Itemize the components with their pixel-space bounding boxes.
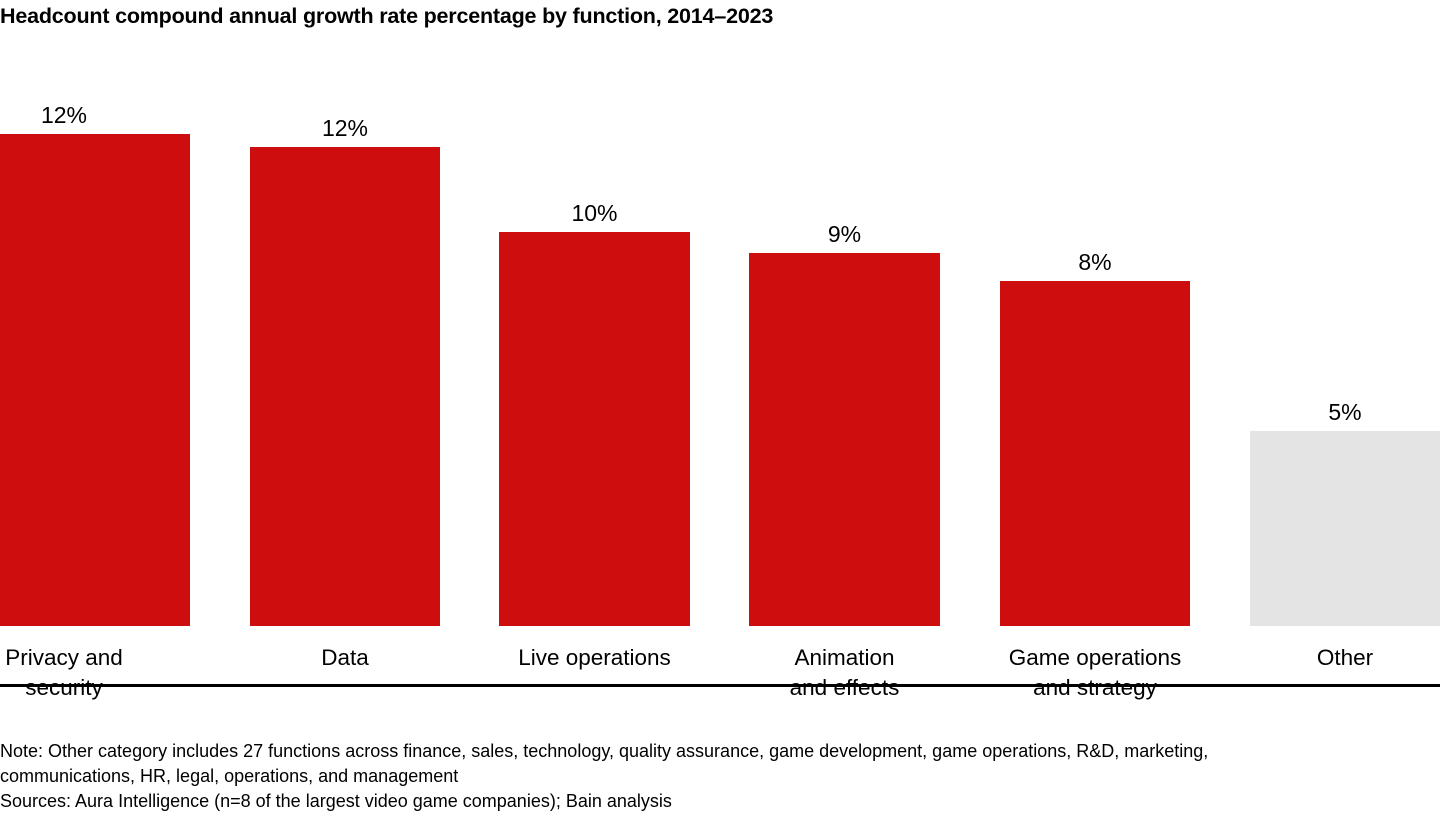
bar-animation-and-effects[interactable]: [749, 253, 940, 626]
category-label-line2: security: [0, 673, 190, 703]
bar-data[interactable]: [250, 147, 440, 626]
category-label-line1: Animation: [749, 643, 940, 673]
category-label-line2: and effects: [749, 673, 940, 703]
page-title: Headcount compound annual growth rate pe…: [0, 1, 1440, 31]
bar-group-animation-and-effects: 9%: [749, 60, 940, 626]
note-line-2: communications, HR, legal, operations, a…: [0, 764, 1440, 789]
bar-group-privacy-and-security: 12%: [0, 60, 190, 626]
note-line-1: Note: Other category includes 27 functio…: [0, 739, 1440, 764]
bar-other[interactable]: [1250, 431, 1440, 626]
sources-line: Sources: Aura Intelligence (n=8 of the l…: [0, 789, 1440, 814]
category-label-animation-and-effects: Animation and effects: [749, 643, 940, 703]
plot-area: 12% 12% 10% 9% 8% 5%: [0, 60, 1440, 626]
category-label-line1: Game operations: [1000, 643, 1190, 673]
bar-live-operations[interactable]: [499, 232, 690, 626]
bar-group-data: 12%: [250, 60, 440, 626]
bar-value-label: 12%: [250, 115, 440, 141]
bar-privacy-and-security[interactable]: [0, 134, 190, 626]
bar-value-label: 10%: [499, 200, 690, 226]
bar-game-operations-and-strategy[interactable]: [1000, 281, 1190, 626]
category-label-line2: and strategy: [1000, 673, 1190, 703]
bar-group-other: 5%: [1250, 60, 1440, 626]
category-label-game-operations-and-strategy: Game operations and strategy: [1000, 643, 1190, 703]
bar-group-live-operations: 10%: [499, 60, 690, 626]
bar-group-game-operations-and-strategy: 8%: [1000, 60, 1190, 626]
chart-page: Headcount compound annual growth rate pe…: [0, 0, 1440, 810]
category-label-line1: Other: [1250, 643, 1440, 673]
category-label-live-operations: Live operations: [499, 643, 690, 673]
bar-value-label: 5%: [1250, 399, 1440, 425]
bar-value-label: 12%: [0, 102, 190, 128]
category-label-other: Other: [1250, 643, 1440, 673]
category-label-line1: Privacy and: [0, 643, 190, 673]
category-label-line1: Data: [250, 643, 440, 673]
axis-baseline: [0, 684, 1440, 687]
bar-value-label: 9%: [749, 221, 940, 247]
bar-value-label: 8%: [1000, 249, 1190, 275]
category-label-line1: Live operations: [499, 643, 690, 673]
footnotes: Note: Other category includes 27 functio…: [0, 739, 1440, 814]
category-label-privacy-and-security: Privacy and security: [0, 643, 190, 703]
category-label-data: Data: [250, 643, 440, 673]
